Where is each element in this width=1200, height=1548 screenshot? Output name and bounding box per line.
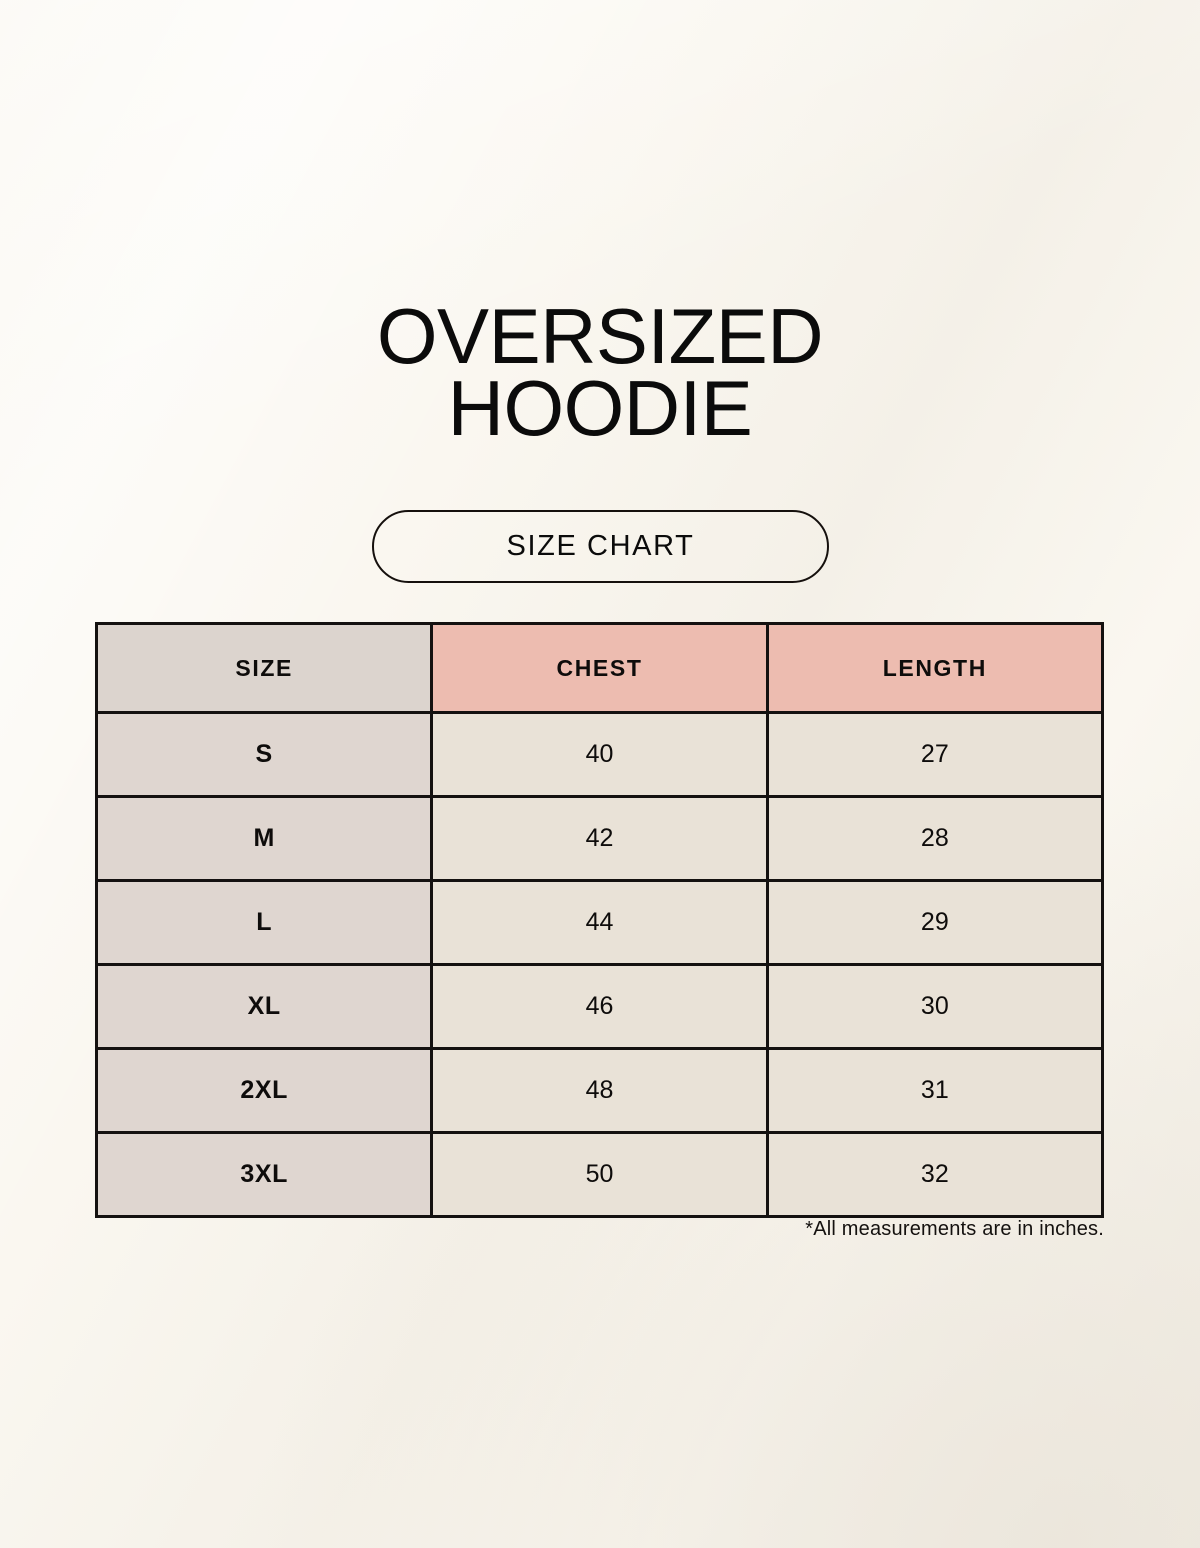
- cell-chest: 44: [432, 881, 767, 965]
- cell-length: 31: [767, 1049, 1102, 1133]
- cell-chest: 42: [432, 797, 767, 881]
- size-table-container: SIZE CHEST LENGTH S 40 27 M 42 28 L: [95, 622, 1104, 1218]
- measurements-footnote: *All measurements are in inches.: [95, 1218, 1104, 1241]
- cell-chest: 48: [432, 1049, 767, 1133]
- table-row: 3XL 50 32: [97, 1133, 1103, 1217]
- table-row: M 42 28: [97, 797, 1103, 881]
- table-row: S 40 27: [97, 713, 1103, 797]
- column-header-length: LENGTH: [767, 624, 1102, 713]
- cell-length: 30: [767, 965, 1102, 1049]
- size-chart-badge: SIZE CHART: [372, 510, 829, 583]
- cell-length: 32: [767, 1133, 1102, 1217]
- cell-chest: 46: [432, 965, 767, 1049]
- cell-chest: 40: [432, 713, 767, 797]
- cell-length: 27: [767, 713, 1102, 797]
- page-title-line-2: HOODIE: [0, 372, 1200, 444]
- cell-chest: 50: [432, 1133, 767, 1217]
- page-title: OVERSIZED HOODIE: [0, 300, 1200, 444]
- cell-size: 2XL: [97, 1049, 432, 1133]
- size-table: SIZE CHEST LENGTH S 40 27 M 42 28 L: [95, 622, 1104, 1218]
- table-header-row: SIZE CHEST LENGTH: [97, 624, 1103, 713]
- cell-size: L: [97, 881, 432, 965]
- size-chart-page: OVERSIZED HOODIE SIZE CHART SIZE CHEST L…: [0, 0, 1200, 1548]
- cell-size: XL: [97, 965, 432, 1049]
- column-header-size: SIZE: [97, 624, 432, 713]
- cell-size: S: [97, 713, 432, 797]
- cell-size: M: [97, 797, 432, 881]
- size-chart-badge-label: SIZE CHART: [507, 530, 695, 563]
- table-row: L 44 29: [97, 881, 1103, 965]
- column-header-chest: CHEST: [432, 624, 767, 713]
- table-row: XL 46 30: [97, 965, 1103, 1049]
- cell-size: 3XL: [97, 1133, 432, 1217]
- cell-length: 29: [767, 881, 1102, 965]
- page-title-line-1: OVERSIZED: [0, 300, 1200, 372]
- table-row: 2XL 48 31: [97, 1049, 1103, 1133]
- cell-length: 28: [767, 797, 1102, 881]
- size-table-body: S 40 27 M 42 28 L 44 29 XL 46 30: [97, 713, 1103, 1217]
- size-table-head: SIZE CHEST LENGTH: [97, 624, 1103, 713]
